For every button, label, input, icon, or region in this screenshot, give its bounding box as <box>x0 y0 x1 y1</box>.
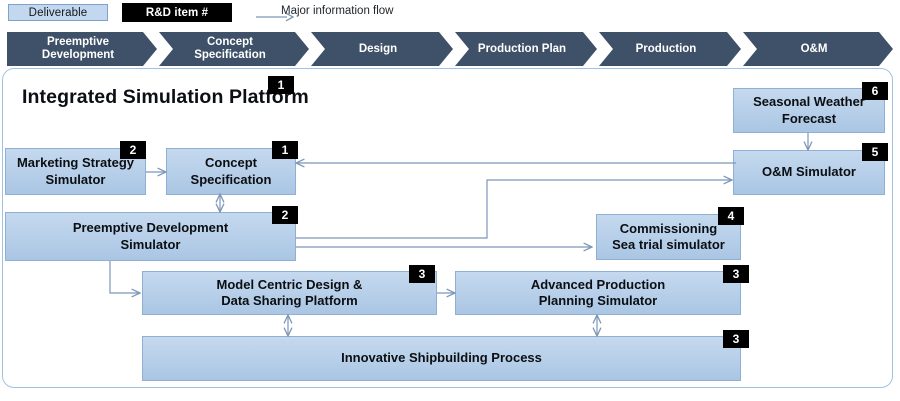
box-label-line2: Sea trial simulator <box>612 237 725 253</box>
phase-label-line1: Production <box>636 43 697 56</box>
diagram-canvas: Deliverable R&D item # Major information… <box>0 0 900 401</box>
legend-deliverable-swatch: Deliverable <box>8 4 108 21</box>
badge-marketing-strategy-simulator: 2 <box>120 141 146 159</box>
badge-seasonal-weather-forecast: 6 <box>862 82 888 100</box>
phase-label-line2: Development <box>42 49 114 62</box>
box-label-line2: Simulator <box>73 237 228 253</box>
badge-integrated-simulation-platform: 1 <box>268 76 294 94</box>
box-label-line2: Specification <box>191 172 272 188</box>
box-label-line1: O&M Simulator <box>762 164 856 180</box>
legend-rd-item-swatch: R&D item # <box>122 3 232 22</box>
phase-label-line1: O&M <box>801 43 828 56</box>
box-label-line2: Forecast <box>753 111 865 127</box>
phase-chevron-production-plan[interactable]: Production Plan <box>455 32 597 66</box>
box-label-line1: Preemptive Development <box>73 220 228 236</box>
badge-preemptive-development-simulator: 2 <box>272 206 298 224</box>
box-label-line1: Concept <box>191 155 272 171</box>
phase-chevron-om[interactable]: O&M <box>743 32 893 66</box>
badge-model-centric-design-platform: 3 <box>409 265 435 283</box>
legend-flow-label: Major information flow <box>281 5 393 17</box>
legend-deliverable-label: Deliverable <box>29 7 88 19</box>
phase-chevron-concept-specification[interactable]: Concept Specification <box>159 32 309 66</box>
phase-label-line1: Design <box>359 43 397 56</box>
box-advanced-production-planning-simulator[interactable]: Advanced Production Planning Simulator <box>455 271 741 315</box>
box-label-line1: Advanced Production <box>531 277 665 293</box>
phase-label-line1: Production Plan <box>478 43 566 56</box>
page-title: Integrated Simulation Platform <box>22 86 309 109</box>
phase-chevron-preemptive-development[interactable]: Preemptive Development <box>7 32 157 66</box>
phase-chevron-design[interactable]: Design <box>311 32 453 66</box>
box-label-line1: Commissioning <box>612 221 725 237</box>
legend-rd-item-label: R&D item # <box>146 7 208 19</box>
badge-om-simulator: 5 <box>862 143 888 161</box>
badge-commissioning-sea-trial-simulator: 4 <box>718 207 744 225</box>
phase-label-line2: Specification <box>194 49 266 62</box>
box-label-line1: Innovative Shipbuilding Process <box>341 350 542 366</box>
badge-advanced-production-planning-simulator: 3 <box>723 265 749 283</box>
box-preemptive-development-simulator[interactable]: Preemptive Development Simulator <box>5 212 296 261</box>
box-label-line2: Simulator <box>17 172 134 188</box>
badge-concept-specification: 1 <box>272 141 298 159</box>
phase-bar: Preemptive Development Concept Specifica… <box>7 32 893 66</box>
phase-label-line1: Preemptive <box>42 36 114 49</box>
box-label-line1: Model Centric Design & <box>217 277 363 293</box>
box-label-line1: Seasonal Weather <box>753 94 865 110</box>
box-label-line1: Marketing Strategy <box>17 155 134 171</box>
box-model-centric-design-platform[interactable]: Model Centric Design & Data Sharing Plat… <box>142 271 437 315</box>
phase-chevron-production[interactable]: Production <box>599 32 741 66</box>
box-label-line2: Data Sharing Platform <box>217 293 363 309</box>
box-label-line2: Planning Simulator <box>531 293 665 309</box>
badge-innovative-shipbuilding-process: 3 <box>723 330 749 348</box>
box-innovative-shipbuilding-process[interactable]: Innovative Shipbuilding Process <box>142 336 741 381</box>
phase-label-line1: Concept <box>194 36 266 49</box>
